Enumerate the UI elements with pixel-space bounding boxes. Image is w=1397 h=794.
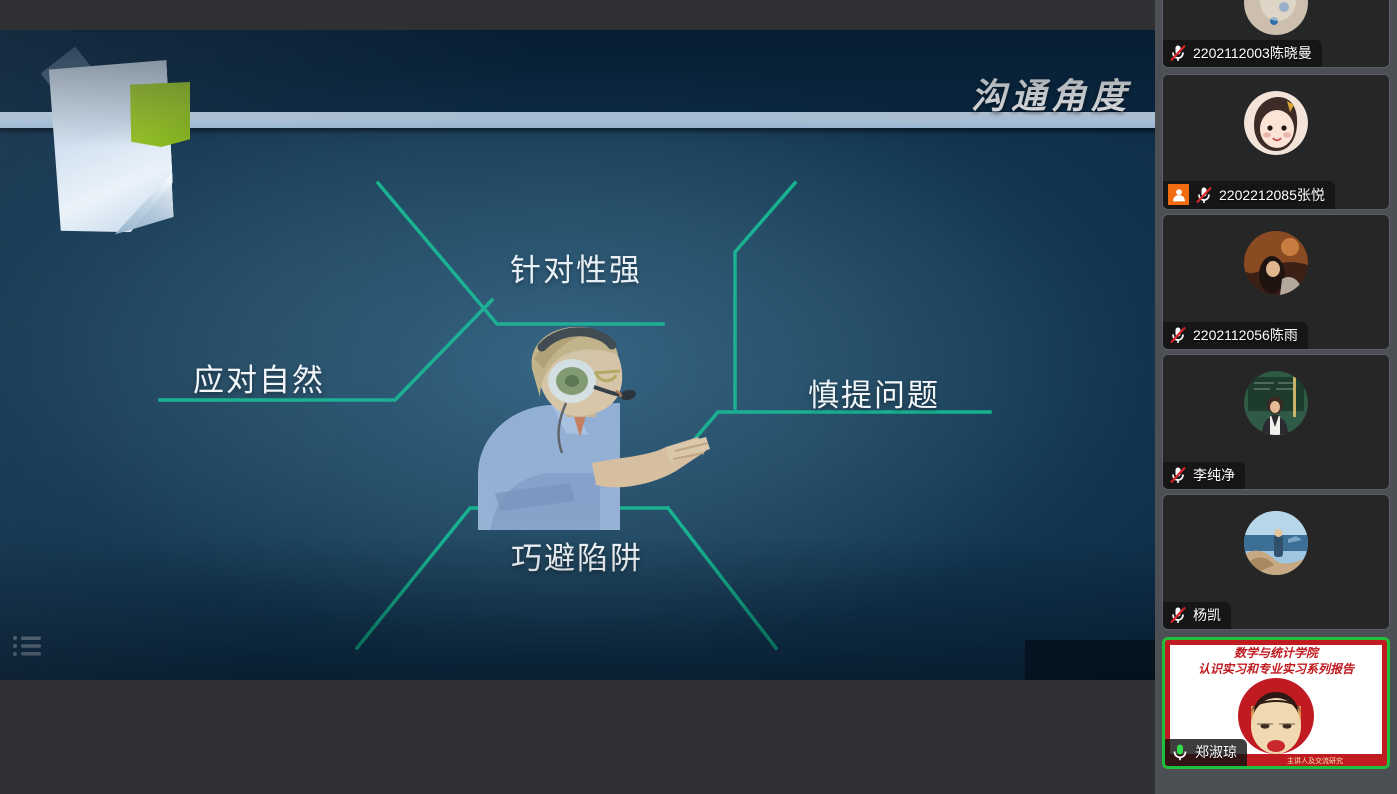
participant-name: 李纯净 [1193,465,1235,485]
mic-muted-icon[interactable] [1168,605,1188,625]
avatar [1244,91,1308,155]
participant-name-bar: 2202112056陈雨 [1163,322,1308,349]
participant-name: 2202212085张悦 [1219,185,1325,205]
man-with-headset-icon [470,325,720,530]
mic-active-icon[interactable] [1170,742,1190,762]
participant-card[interactable]: 李纯净 [1162,354,1390,490]
participant-name: 杨凯 [1193,605,1221,625]
presenter-illustration [470,325,720,530]
participant-name-bar: 杨凯 [1163,602,1231,629]
avatar [1244,371,1308,435]
shared-screen-region[interactable]: 沟通角度 [0,0,1155,794]
mic-muted-icon[interactable] [1194,185,1214,205]
bullet-list-icon[interactable] [12,634,42,658]
participant-card-active-speaker[interactable]: 数学与统计学院 认识实习和专业实习系列报告 主讲人及交流研究 [1162,637,1390,769]
presentation-slide[interactable]: 沟通角度 [0,30,1155,680]
mic-muted-icon[interactable] [1168,325,1188,345]
svg-text:认识实习和专业实习系列报告: 认识实习和专业实习系列报告 [1198,662,1356,676]
fishbone-label-bottom: 巧避陷阱 [511,533,643,578]
participant-card[interactable]: 2202212085张悦 [1162,74,1390,210]
fishbone-label-top: 针对性强 [510,245,642,290]
mic-muted-icon[interactable] [1168,43,1188,63]
slide-corner-patch [1025,640,1155,680]
participant-name: 2202112003陈晓曼 [1193,43,1312,63]
participant-card[interactable]: 2202112056陈雨 [1162,214,1390,350]
svg-text:数学与统计学院: 数学与统计学院 [1234,646,1320,660]
avatar [1244,0,1308,35]
host-person-icon [1168,184,1189,205]
participant-name-bar: 郑淑琼 [1165,739,1247,766]
participant-card[interactable]: 杨凯 [1162,494,1390,630]
svg-text:主讲人及交流研究: 主讲人及交流研究 [1287,756,1343,765]
participant-strip[interactable]: 2202112003陈晓曼 [1155,0,1397,794]
participant-name-bar: 2202212085张悦 [1163,181,1335,209]
avatar [1244,231,1308,295]
participant-name-bar: 李纯净 [1163,462,1245,489]
participant-name: 郑淑琼 [1195,742,1237,762]
mic-muted-icon[interactable] [1168,465,1188,485]
participant-name-bar: 2202112003陈晓曼 [1163,40,1322,67]
conference-window: 沟通角度 [0,0,1397,794]
fishbone-label-left: 应对自然 [193,355,325,400]
avatar [1244,511,1308,575]
fishbone-label-right: 慎提问题 [808,370,940,415]
participant-card[interactable]: 2202112003陈晓曼 [1162,0,1390,68]
participant-name: 2202112056陈雨 [1193,325,1298,345]
